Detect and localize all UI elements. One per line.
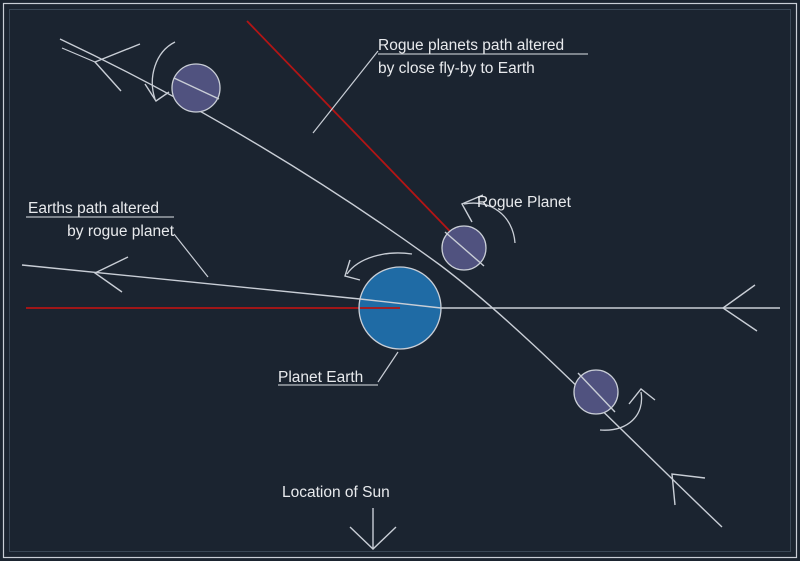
earth-path-label-line1: Earths path altered: [28, 200, 159, 217]
rogue-planet-diagram: Rogue planets path altered by close fly-…: [0, 0, 800, 561]
earth-path-label-line2: by rogue planet: [67, 223, 175, 240]
planet-earth-label: Planet Earth: [278, 369, 363, 386]
rogue-path-label-line1: Rogue planets path altered: [378, 37, 564, 54]
rogue-planet-label: Rogue Planet: [477, 194, 572, 211]
diagram-canvas: Rogue planets path altered by close fly-…: [0, 0, 800, 561]
location-of-sun-label: Location of Sun: [282, 484, 390, 501]
rogue-path-label-line2: by close fly-by to Earth: [378, 60, 535, 77]
